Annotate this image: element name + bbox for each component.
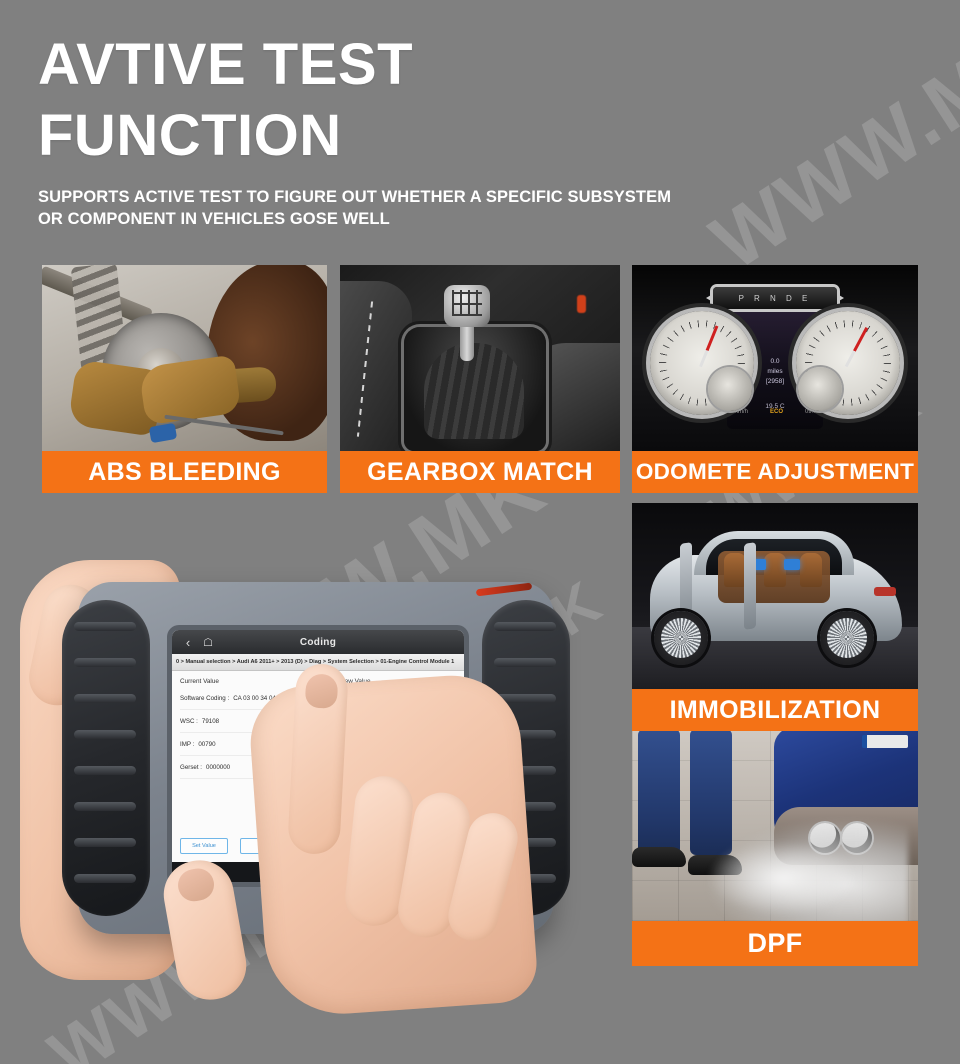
fingernail <box>176 866 217 904</box>
feature-card-label: GEARBOX MATCH <box>367 458 593 487</box>
feature-card-abs-bleeding[interactable]: ABS BLEEDING <box>42 265 327 493</box>
right-index-finger <box>287 663 349 855</box>
row-label: Software Coding : <box>180 695 229 702</box>
tablet-left-grip <box>62 600 150 916</box>
page-title-line-1: AVTIVE TEST <box>38 30 960 101</box>
app-title: Coding <box>172 637 464 648</box>
feature-card-label-bar: DPF <box>632 921 918 966</box>
feature-card-gearbox-match[interactable]: GEARBOX MATCH <box>340 265 620 493</box>
cluster-gear-indicator: P R N D E <box>713 287 837 309</box>
exhaust-smoke-photo <box>632 731 918 921</box>
row-value: 0000000 <box>206 764 230 771</box>
instrument-cluster-photo: 0.0 miles [2958] 19.5 C 0 km/h ECO 09:57… <box>632 265 918 451</box>
page-header: AVTIVE TEST FUNCTION SUPPORTS ACTIVE TES… <box>0 0 960 231</box>
app-title-bar: ‹ ☖ Coding <box>172 630 464 654</box>
speedometer-dial <box>650 311 754 415</box>
feature-card-label-bar: ODOMETE ADJUSTMENT <box>632 451 918 493</box>
cluster-eco-badge: ECO <box>770 409 783 415</box>
row-label: WSC : <box>180 718 198 725</box>
page-subtitle-line-2: OR COMPONENT IN VEHICLES GOSE WELL <box>38 208 738 231</box>
feature-card-label: IMMOBILIZATION <box>670 696 881 725</box>
brake-disc-mechanic-photo <box>42 265 327 451</box>
feature-card-immobilization[interactable]: IMMOBILIZATION <box>632 503 918 731</box>
page-title: AVTIVE TEST FUNCTION <box>38 30 960 172</box>
row-label: IMP : <box>180 741 194 748</box>
tablet-red-accent <box>476 583 532 597</box>
tablet-in-hands-illustration: ‹ ☖ Coding 0 > Manual selection > Audi A… <box>20 560 620 1040</box>
tachometer-dial <box>796 311 900 415</box>
feature-card-label: DPF <box>748 928 803 959</box>
set-value-button[interactable]: Set Value <box>180 838 228 854</box>
feature-card-label-bar: IMMOBILIZATION <box>632 689 918 731</box>
row-value: 79108 <box>202 718 219 725</box>
page-subtitle-line-1: SUPPORTS ACTIVE TEST TO FIGURE OUT WHETH… <box>38 186 738 209</box>
feature-card-label-bar: ABS BLEEDING <box>42 451 327 493</box>
cluster-odo-value: 0.0 <box>765 357 784 367</box>
manual-gear-shifter-photo <box>340 265 620 451</box>
cluster-odo-unit: miles <box>765 367 784 377</box>
page-title-line-2: FUNCTION <box>38 101 960 172</box>
feature-card-label: ABS BLEEDING <box>88 458 281 487</box>
page-subtitle: SUPPORTS ACTIVE TEST TO FIGURE OUT WHETH… <box>38 186 738 232</box>
cluster-mini-display: 0.0 miles [2958] 19.5 C <box>765 357 784 412</box>
row-value: 00790 <box>198 741 215 748</box>
silver-sedan-doors-open-photo <box>632 503 918 689</box>
feature-card-dpf[interactable]: DPF <box>632 731 918 966</box>
cluster-status-row: 0 km/h ECO 09:57 <box>730 409 820 415</box>
fingernail <box>305 673 339 709</box>
feature-card-odometer-adjustment[interactable]: 0.0 miles [2958] 19.5 C 0 km/h ECO 09:57… <box>632 265 918 493</box>
feature-card-label: ODOMETE ADJUSTMENT <box>636 459 914 485</box>
cluster-trip-value: [2958] <box>765 377 784 387</box>
feature-card-label-bar: GEARBOX MATCH <box>340 451 620 493</box>
row-label: Gerset : <box>180 764 202 771</box>
